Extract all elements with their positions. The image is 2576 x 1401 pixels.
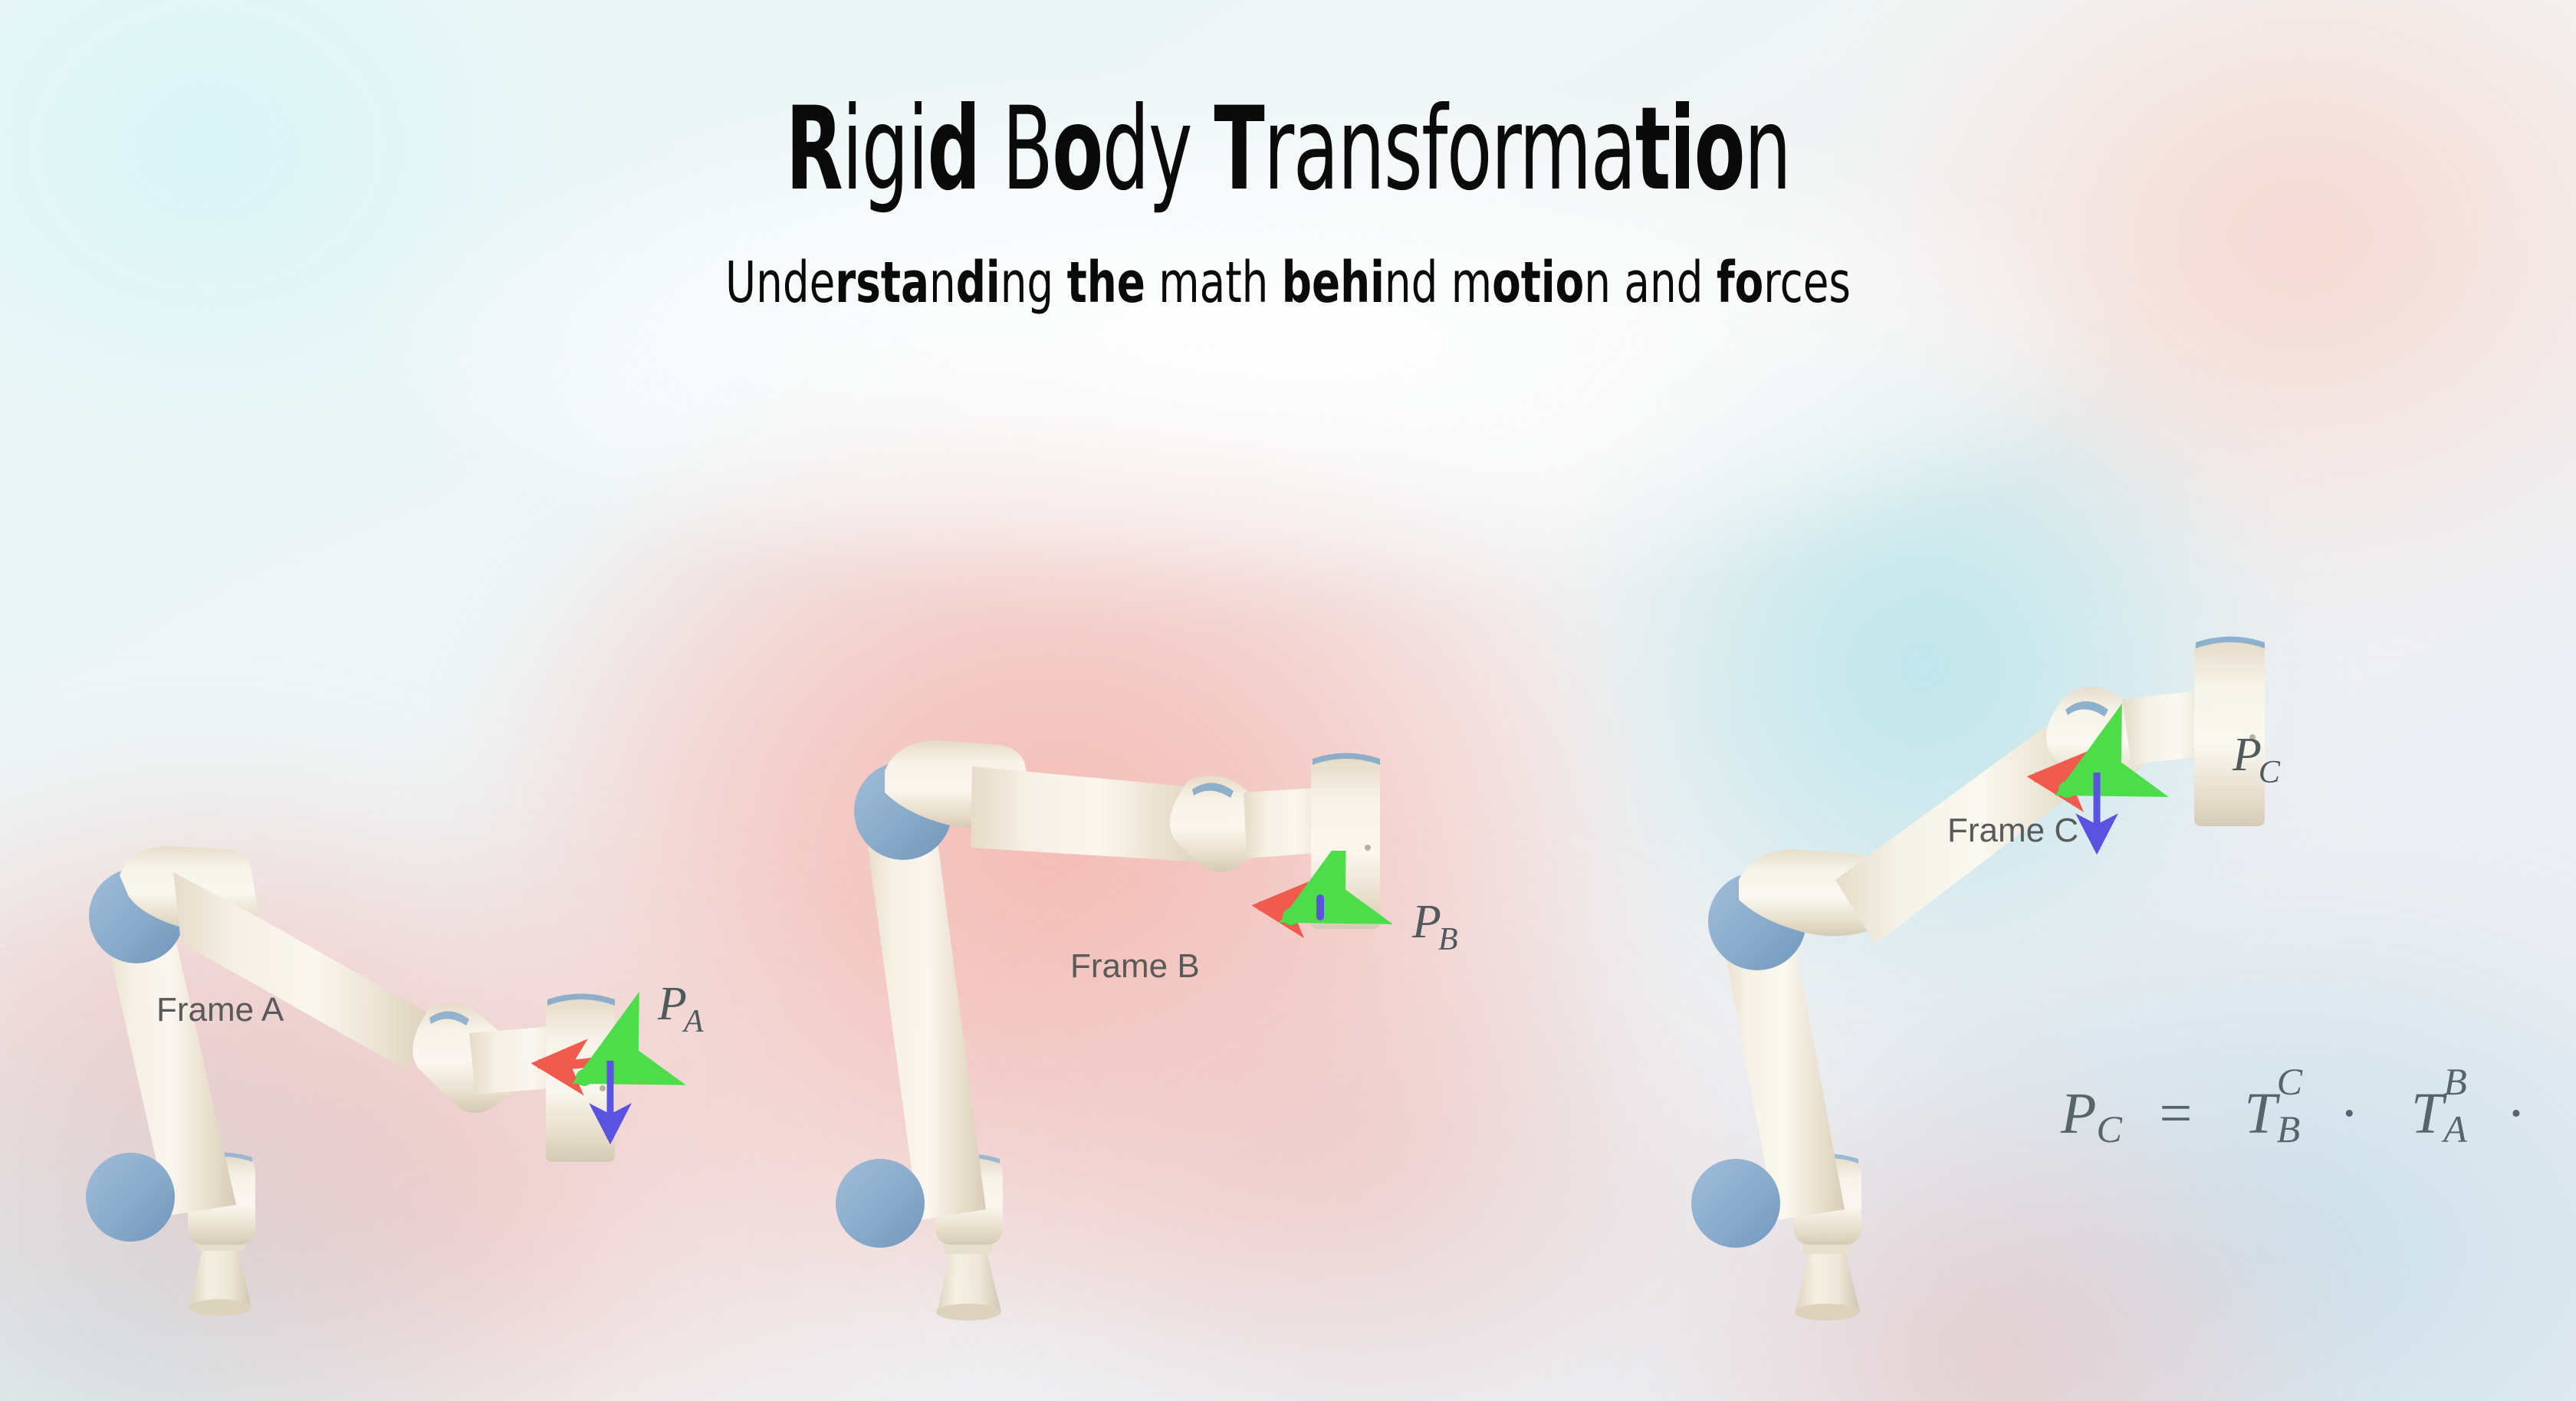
robot-a-joint-elbow-lower bbox=[86, 1153, 175, 1242]
robot-a-link-upper bbox=[173, 872, 445, 1070]
point-label-a: PA bbox=[658, 977, 707, 1032]
frame-a-axes bbox=[452, 950, 774, 1180]
formula-t1-sub: B bbox=[2277, 1107, 2301, 1151]
subtitle-seg-5: the bbox=[1067, 250, 1145, 316]
frame-label-b: Frame B bbox=[1070, 947, 1200, 986]
subtitle-seg-9: otio bbox=[1492, 250, 1584, 316]
formula-lhs: PC bbox=[2061, 1081, 2096, 1147]
robot-b-tool-screw bbox=[1365, 845, 1371, 851]
subtitle-seg-12: rces bbox=[1763, 250, 1851, 316]
title-seg-9: n bbox=[1744, 83, 1790, 216]
subtitle-seg-11: fo bbox=[1717, 250, 1763, 316]
subtitle-seg-10: n and bbox=[1584, 250, 1717, 316]
robot-arm-c bbox=[1648, 559, 2384, 1326]
title-seg-2: d bbox=[928, 83, 980, 216]
transformation-formula: PC = TBC · TAB · PA bbox=[2061, 1081, 2576, 1147]
point-label-c-sub: C bbox=[2259, 755, 2280, 790]
page-subtitle: Understanding the math behind motion and… bbox=[335, 254, 2241, 311]
poster-canvas: Rigid Body Transformation Understanding … bbox=[0, 0, 2576, 1401]
robot-b-joint-elbow-lower bbox=[836, 1159, 925, 1248]
title-seg-5: dy bbox=[1102, 83, 1214, 216]
point-label-a-sub: A bbox=[684, 1004, 704, 1039]
subtitle-seg-6: math bbox=[1145, 250, 1282, 316]
subtitle-seg-7: behi bbox=[1282, 250, 1385, 316]
formula-t2: TAB bbox=[2411, 1081, 2443, 1147]
robot-b-pedestal bbox=[937, 1249, 1001, 1312]
robot-c-base-foot bbox=[1795, 1304, 1859, 1321]
point-label-c-base: P bbox=[2233, 729, 2262, 781]
subtitle-seg-2: n bbox=[929, 250, 956, 316]
robot-c-svg bbox=[1648, 559, 2384, 1326]
formula-dot-2: · bbox=[2506, 1081, 2525, 1146]
point-label-b-base: P bbox=[1412, 896, 1441, 948]
point-label-b-sub: B bbox=[1438, 922, 1458, 957]
formula-lhs-base: P bbox=[2061, 1081, 2096, 1146]
frame-label-c: Frame C bbox=[1947, 812, 2078, 850]
title-seg-3: B bbox=[980, 83, 1053, 216]
formula-t1-sup: C bbox=[2277, 1059, 2302, 1104]
point-label-c: PC bbox=[2233, 728, 2283, 783]
formula-equals: = bbox=[2159, 1081, 2192, 1146]
frame-c-axes bbox=[1963, 682, 2254, 912]
formula-t2-sub: A bbox=[2443, 1107, 2467, 1151]
robot-b-svg bbox=[805, 713, 1480, 1326]
title-seg-0: R bbox=[786, 83, 842, 216]
robot-arm-b bbox=[805, 713, 1480, 1326]
robot-c-pedestal bbox=[1796, 1249, 1860, 1312]
robot-a-pedestal bbox=[189, 1246, 251, 1307]
page-title: Rigid Body Transformation bbox=[360, 92, 2215, 207]
title-seg-8: tio bbox=[1635, 83, 1744, 216]
frame-label-a: Frame A bbox=[156, 991, 284, 1029]
formula-t1-base: T bbox=[2244, 1081, 2276, 1146]
point-label-b: PB bbox=[1412, 895, 1461, 950]
formula-t1: TBC bbox=[2244, 1081, 2276, 1147]
robot-a-base-foot bbox=[189, 1299, 251, 1316]
subtitle-seg-8: nd m bbox=[1385, 250, 1492, 316]
subtitle-seg-0: Unde bbox=[725, 250, 835, 316]
robot-c-joint-elbow-lower bbox=[1691, 1159, 1780, 1248]
formula-t2-base: T bbox=[2411, 1081, 2443, 1146]
subtitle-seg-3: di bbox=[956, 250, 1001, 316]
robot-b-base-foot bbox=[936, 1304, 1001, 1321]
point-label-a-base: P bbox=[658, 978, 687, 1030]
title-seg-4: o bbox=[1052, 83, 1102, 216]
formula-lhs-sub: C bbox=[2096, 1107, 2121, 1151]
formula-t2-sup: B bbox=[2443, 1059, 2467, 1104]
title-seg-6: T bbox=[1214, 83, 1263, 216]
subtitle-seg-4: ng bbox=[1001, 250, 1067, 316]
formula-dot-1: · bbox=[2340, 1081, 2359, 1146]
poster-header: Rigid Body Transformation Understanding … bbox=[0, 92, 2576, 311]
subtitle-seg-1: rsta bbox=[835, 250, 929, 316]
title-seg-7: ransforma bbox=[1263, 83, 1635, 216]
title-seg-1: igi bbox=[842, 83, 927, 216]
